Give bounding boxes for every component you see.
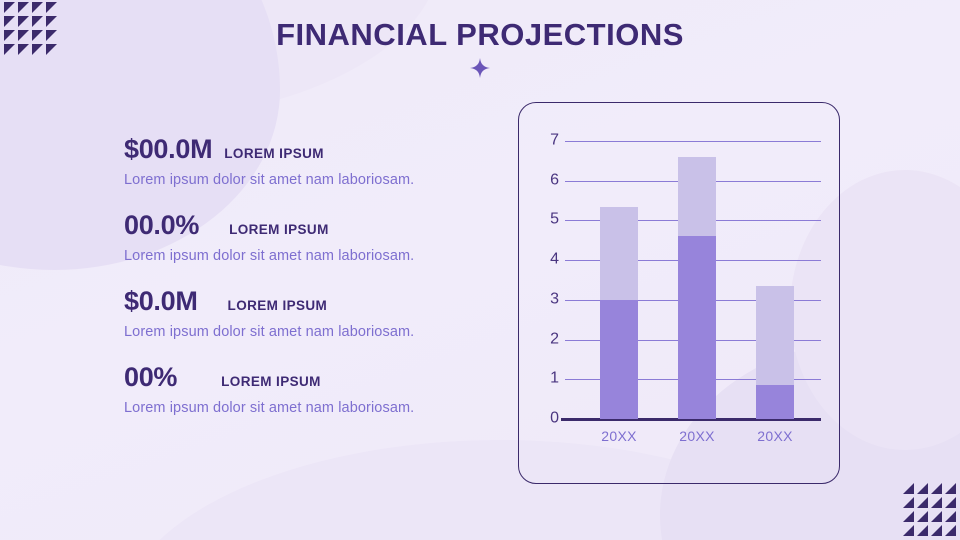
chart-y-tick-label: 5: [539, 211, 559, 229]
triangle-icon: [917, 511, 928, 522]
slide-canvas: FINANCIAL PROJECTIONS $00.0M LOREM IPSUM…: [0, 0, 960, 540]
triangle-icon: [917, 483, 928, 494]
stat-head: 00% LOREM IPSUM: [124, 362, 492, 393]
chart-x-tick-label: 20XX: [662, 428, 732, 444]
four-point-sparkle-icon: [470, 58, 490, 78]
chart-card: 01234567 20XX20XX20XX: [518, 102, 840, 484]
chart-bar: [600, 207, 638, 419]
stat-head: $00.0M LOREM IPSUM: [124, 134, 492, 165]
chart-x-tick-label: 20XX: [740, 428, 810, 444]
stats-list: $00.0M LOREM IPSUM Lorem ipsum dolor sit…: [124, 134, 492, 416]
triangle-icon: [32, 2, 43, 13]
stat-value: $00.0M: [124, 134, 212, 165]
chart-y-tick-label: 7: [539, 132, 559, 150]
triangle-icon: [917, 525, 928, 536]
stat-item: $0.0M LOREM IPSUM Lorem ipsum dolor sit …: [124, 286, 492, 340]
stat-value: 00%: [124, 362, 177, 393]
chart-bar: [756, 286, 794, 419]
triangle-icon: [903, 497, 914, 508]
chart-y-tick-label: 4: [539, 251, 559, 269]
triangle-grid-icon-bottom-right: [903, 483, 956, 536]
triangle-icon: [931, 497, 942, 508]
triangle-icon: [917, 497, 928, 508]
bar-chart: 01234567 20XX20XX20XX: [549, 141, 821, 419]
triangle-icon: [931, 483, 942, 494]
triangle-icon: [46, 2, 57, 13]
chart-bar-segment-upper: [756, 286, 794, 385]
chart-y-tick-label: 2: [539, 330, 559, 348]
triangle-icon: [18, 2, 29, 13]
triangle-icon: [931, 511, 942, 522]
triangle-icon: [4, 2, 15, 13]
chart-gridline: [565, 141, 821, 142]
stat-head: 00.0% LOREM IPSUM: [124, 210, 492, 241]
triangle-icon: [945, 497, 956, 508]
triangle-icon: [903, 483, 914, 494]
page-title: FINANCIAL PROJECTIONS: [0, 18, 960, 52]
stat-head: $0.0M LOREM IPSUM: [124, 286, 492, 317]
chart-y-tick-label: 3: [539, 290, 559, 308]
chart-bar: [678, 157, 716, 419]
triangle-icon: [945, 511, 956, 522]
stat-description: Lorem ipsum dolor sit amet nam laboriosa…: [124, 172, 492, 188]
stat-label: LOREM IPSUM: [229, 222, 329, 237]
chart-y-tick-label: 0: [539, 410, 559, 428]
title-block: FINANCIAL PROJECTIONS: [0, 18, 960, 78]
stat-value: $0.0M: [124, 286, 198, 317]
stat-item: 00.0% LOREM IPSUM Lorem ipsum dolor sit …: [124, 210, 492, 264]
stat-label: LOREM IPSUM: [228, 298, 328, 313]
chart-bar-segment-lower: [678, 236, 716, 419]
chart-bar-segment-upper: [600, 207, 638, 300]
triangle-icon: [903, 525, 914, 536]
stat-label: LOREM IPSUM: [221, 374, 321, 389]
stat-description: Lorem ipsum dolor sit amet nam laboriosa…: [124, 400, 492, 416]
stat-label: LOREM IPSUM: [224, 146, 324, 161]
chart-y-tick-label: 6: [539, 171, 559, 189]
stat-item: $00.0M LOREM IPSUM Lorem ipsum dolor sit…: [124, 134, 492, 188]
triangle-icon: [945, 483, 956, 494]
stat-description: Lorem ipsum dolor sit amet nam laboriosa…: [124, 248, 492, 264]
stat-item: 00% LOREM IPSUM Lorem ipsum dolor sit am…: [124, 362, 492, 416]
stat-value: 00.0%: [124, 210, 199, 241]
triangle-icon: [945, 525, 956, 536]
chart-x-tick-label: 20XX: [584, 428, 654, 444]
triangle-icon: [903, 511, 914, 522]
chart-bar-segment-lower: [756, 385, 794, 419]
chart-bar-segment-lower: [600, 300, 638, 419]
chart-bar-segment-upper: [678, 157, 716, 236]
triangle-icon: [931, 525, 942, 536]
stat-description: Lorem ipsum dolor sit amet nam laboriosa…: [124, 324, 492, 340]
chart-y-tick-label: 1: [539, 370, 559, 388]
